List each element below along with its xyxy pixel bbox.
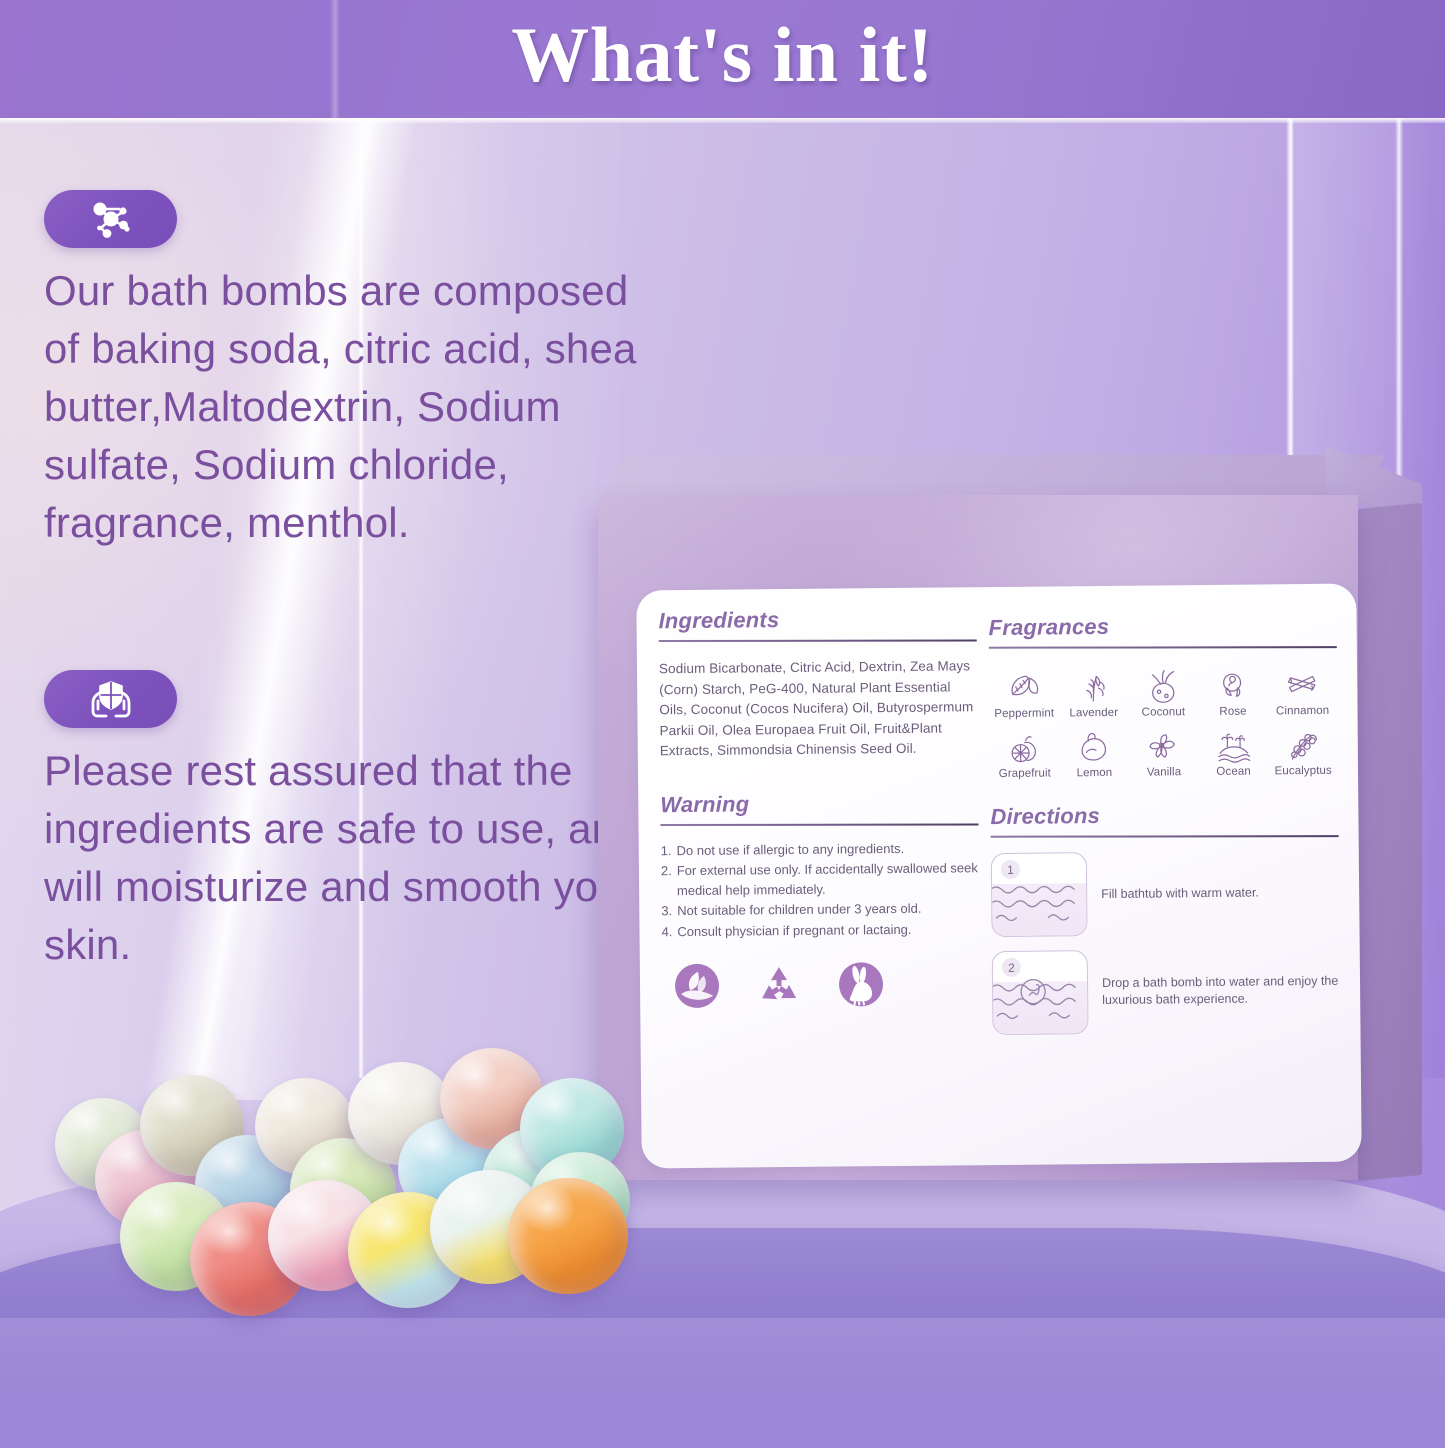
fragrance-label: Ocean [1216,766,1251,778]
peppermint-leaf-icon [1005,666,1043,706]
fragrance-item: Lavender [1059,665,1129,720]
direction-step-illustration: 1 [991,852,1088,937]
fragrance-label: Lavender [1069,707,1118,719]
warning-item: 1.Do not use if allergic to any ingredie… [661,838,979,861]
page-title: What's in it! [0,10,1445,100]
fragrance-label: Coconut [1142,706,1186,718]
feature-text-safety: Please rest assured that the ingredients… [44,742,664,974]
cinnamon-sticks-icon [1283,663,1321,703]
warning-item-text: Do not use if allergic to any ingredient… [676,838,904,860]
warning-section: Warning 1.Do not use if allergic to any … [660,789,979,942]
fragrances-rule [989,646,1337,649]
ingredients-rule [659,639,977,642]
direction-step-number: 2 [1002,958,1021,977]
product-box-side-face [1358,503,1422,1181]
product-box-front-face: Ingredients Sodium Bicarbonate, Citric A… [598,495,1358,1180]
fragrance-label: Eucalyptus [1274,765,1331,778]
fragrance-item: Coconut [1128,664,1198,719]
warning-item-text: Consult physician if pregnant or lactain… [677,919,911,941]
ingredients-body: Sodium Bicarbonate, Citric Acid, Dextrin… [659,656,978,762]
product-label-card: Ingredients Sodium Bicarbonate, Citric A… [636,584,1362,1169]
fragrances-title: Fragrances [988,612,1336,641]
directions-rule [991,835,1339,838]
warning-rule [660,823,978,826]
molecule-icon [85,199,137,239]
direction-step-illustration: 2 [992,950,1089,1035]
label-left-column: Ingredients Sodium Bicarbonate, Citric A… [658,605,980,1009]
warning-item: 4.Consult physician if pregnant or lacta… [661,919,979,942]
feature-text-ingredients: Our bath bombs are composed of baking so… [44,262,664,552]
warning-item: 3.Not suitable for children under 3 year… [661,898,979,921]
direction-step-number: 1 [1001,860,1020,879]
feature-badge-ingredients [44,190,177,248]
coconut-icon [1144,664,1182,704]
fragrance-label: Cinnamon [1276,705,1329,718]
fragrances-grid: PeppermintLavenderCoconutRoseCinnamonGra… [989,663,1338,780]
fragrance-item: Rose [1198,663,1268,718]
direction-step: 2Drop a bath bomb into water and enjoy t… [992,948,1341,1035]
fragrance-item: Ocean [1198,723,1268,778]
fragrance-label: Rose [1219,706,1246,718]
bath-bomb [508,1178,628,1294]
warning-item-text: Not suitable for children under 3 years … [677,899,921,921]
rose-icon [1214,664,1252,704]
warning-item-number: 3. [661,901,672,921]
vanilla-flower-icon [1145,724,1183,764]
warning-item-number: 4. [661,922,672,942]
fragrance-label: Grapefruit [999,767,1051,780]
header-band: What's in it! [0,0,1445,118]
header-underline-highlight [0,118,1445,123]
directions-list: 1Fill bathtub with warm water.2Drop a ba… [991,850,1341,1035]
warning-item-number: 1. [661,841,672,861]
ingredients-title: Ingredients [658,605,976,634]
warning-item-text: For external use only. If accidentally s… [677,858,980,900]
fragrance-item: Lemon [1059,725,1129,780]
direction-step: 1Fill bathtub with warm water. [991,850,1340,937]
fragrance-item: Grapefruit [990,725,1060,780]
fragrance-item: Peppermint [989,665,1059,720]
fragrance-item: Vanilla [1129,724,1199,779]
fragrance-label: Lemon [1077,767,1113,779]
fragrance-item: Eucalyptus [1268,723,1338,778]
directions-title: Directions [990,801,1338,830]
direction-step-text: Fill bathtub with warm water. [1101,884,1259,903]
lavender-sprig-icon [1074,665,1112,705]
lemon-icon [1075,725,1113,765]
cruelty-free-rabbit-icon [838,961,884,1007]
fragrances-section: Fragrances PeppermintLavenderCoconutRose… [988,612,1338,780]
label-right-column: Fragrances PeppermintLavenderCoconutRose… [988,612,1340,1035]
product-box: Ingredients Sodium Bicarbonate, Citric A… [592,455,1432,1195]
natural-leaf-icon [674,963,720,1009]
warning-item: 2.For external use only. If accidentally… [661,858,979,900]
warning-list: 1.Do not use if allergic to any ingredie… [661,838,980,942]
shield-in-hands-icon [84,678,138,720]
direction-step-text: Drop a bath bomb into water and enjoy th… [1102,973,1340,1009]
ingredients-section: Ingredients Sodium Bicarbonate, Citric A… [658,605,977,762]
feature-badge-safety [44,670,177,728]
fragrance-label: Peppermint [994,707,1054,720]
pedestal-base [0,1318,1445,1448]
recycle-icon [756,962,802,1008]
warning-title: Warning [660,789,978,818]
grapefruit-icon [1005,726,1043,766]
directions-section: Directions 1Fill bathtub with warm water… [990,801,1340,1035]
ocean-island-icon [1214,724,1252,764]
fragrance-item: Cinnamon [1267,663,1337,718]
eucalyptus-branch-icon [1284,723,1322,763]
fragrance-label: Vanilla [1147,766,1181,778]
eco-badges-row [662,960,980,1009]
warning-item-number: 2. [661,861,672,900]
